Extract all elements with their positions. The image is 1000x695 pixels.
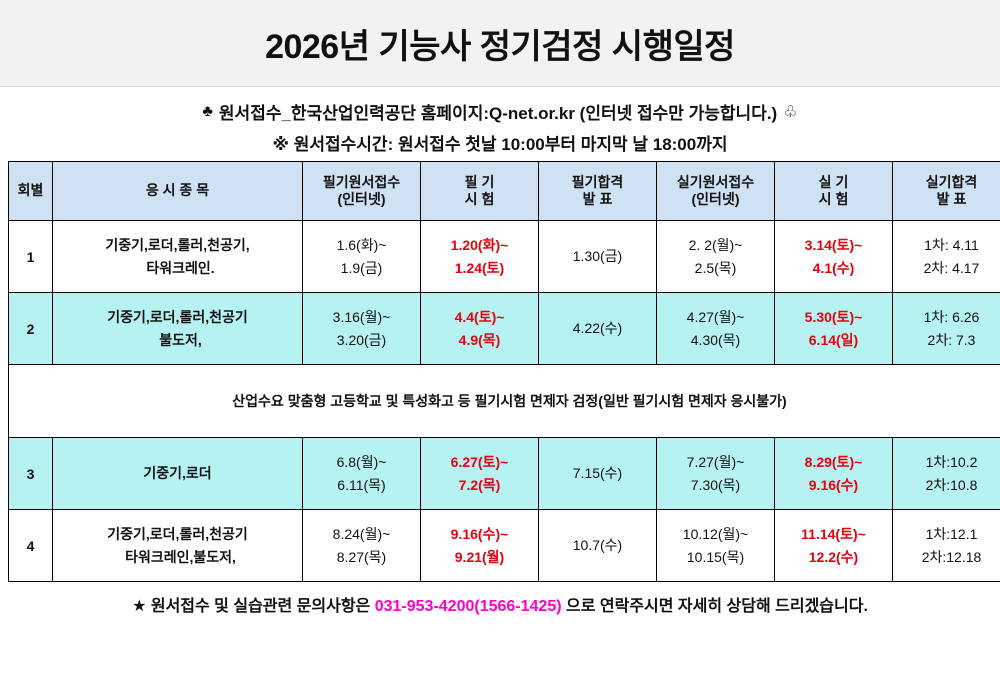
subject-line-2: 불도저, [55, 329, 300, 351]
schedule-table-wrap: 회별 응 시 종 목 필기원서접수 (인터넷) 필 기 시 험 필기합격 [0, 161, 1000, 582]
cell-practical-exam: 8.29(토)~ 9.16(수) [775, 438, 893, 510]
subject-line-1: 기중기,로더,롤러,천공기 [107, 526, 247, 542]
cell-practical-result: 1차:12.1 2차:12.18 [893, 510, 1000, 582]
subject-line-1: 기중기,로더 [143, 465, 211, 481]
cell-written-exam: 1.20(화)~ 1.24(토) [421, 221, 539, 293]
table-row: 1 기중기,로더,롤러,천공기, 타워크레인. 1.6(화)~ 1.9(금) 1… [9, 221, 1000, 293]
footer-text-before: 원서접수 및 실습관련 문의사항은 [151, 598, 370, 615]
notice-line-2: ※ 원서접수시간: 원서접수 첫날 10:00부터 마지막 날 18:00까지 [0, 130, 1000, 155]
cell-subject: 기중기,로더,롤러,천공기 불도저, [53, 293, 303, 365]
col-header-written-result: 필기합격 발 표 [539, 162, 657, 221]
table-row-notice: 산업수요 맞춤형 고등학교 및 특성화고 등 필기시험 면제자 검정(일반 필기… [9, 365, 1000, 438]
table-row: 4 기중기,로더,롤러,천공기 타워크레인,불도저, 8.24(월)~ 8.27… [9, 510, 1000, 582]
cell-practical-result: 1차: 4.11 2차: 4.17 [893, 221, 1000, 293]
cell-practical-apply: 4.27(월)~ 4.30(목) [657, 293, 775, 365]
cell-written-result: 1.30(금) [539, 221, 657, 293]
subject-line-2: 타워크레인. [55, 257, 300, 279]
cell-round: 3 [9, 438, 53, 510]
cell-written-result: 10.7(수) [539, 510, 657, 582]
cell-written-exam: 4.4(토)~ 4.9(목) [421, 293, 539, 365]
col-header-subject: 응 시 종 목 [53, 162, 303, 221]
footer-text-after: 으로 연락주시면 자세히 상담해 드리겠습니다. [566, 598, 868, 615]
cell-written-apply: 1.6(화)~ 1.9(금) [303, 221, 421, 293]
notice-line-1: ♣ 원서접수_한국산업인력공단 홈페이지:Q-net.or.kr (인터넷 접수… [0, 99, 1000, 124]
cell-written-apply: 8.24(월)~ 8.27(목) [303, 510, 421, 582]
cell-written-result: 4.22(수) [539, 293, 657, 365]
cell-practical-apply: 2. 2(월)~ 2.5(목) [657, 221, 775, 293]
page-title: 2026년 기능사 정기검정 시행일정 [265, 19, 735, 68]
contact-phone: 031-953-4200(1566-1425) [375, 598, 562, 615]
subject-line-1: 기중기,로더,롤러,천공기 [107, 309, 247, 325]
cell-written-exam: 6.27(토)~ 7.2(목) [421, 438, 539, 510]
cell-written-result: 7.15(수) [539, 438, 657, 510]
cell-practical-apply: 10.12(월)~ 10.15(목) [657, 510, 775, 582]
header-row: 회별 응 시 종 목 필기원서접수 (인터넷) 필 기 시 험 필기합격 [9, 162, 1000, 221]
cell-subject: 기중기,로더 [53, 438, 303, 510]
cell-practical-exam: 11.14(토)~ 12.2(수) [775, 510, 893, 582]
star-icon: ★ [132, 598, 146, 615]
notice-line-1-text: 원서접수_한국산업인력공단 홈페이지:Q-net.or.kr (인터넷 접수만 … [219, 99, 777, 124]
cell-mid-notice: 산업수요 맞춤형 고등학교 및 특성화고 등 필기시험 면제자 검정(일반 필기… [9, 365, 1000, 438]
cell-subject: 기중기,로더,롤러,천공기 타워크레인,불도저, [53, 510, 303, 582]
col-header-written-exam: 필 기 시 험 [421, 162, 539, 221]
subject-line-1: 기중기,로더,롤러,천공기, [105, 237, 249, 253]
subject-line-2: 타워크레인,불도저, [55, 546, 300, 568]
col-header-round: 회별 [9, 162, 53, 221]
cell-practical-exam: 3.14(토)~ 4.1(수) [775, 221, 893, 293]
col-header-practical-apply: 실기원서접수 (인터넷) [657, 162, 775, 221]
cell-written-apply: 6.8(월)~ 6.11(목) [303, 438, 421, 510]
cell-round: 4 [9, 510, 53, 582]
cell-practical-result: 1차: 6.26 2차: 7.3 [893, 293, 1000, 365]
cell-round: 1 [9, 221, 53, 293]
footer-note: ★ 원서접수 및 실습관련 문의사항은 031-953-4200(1566-14… [0, 582, 1000, 616]
club-icon-right: ♧ [783, 102, 797, 122]
table-header: 회별 응 시 종 목 필기원서접수 (인터넷) 필 기 시 험 필기합격 [9, 162, 1000, 221]
schedule-table: 회별 응 시 종 목 필기원서접수 (인터넷) 필 기 시 험 필기합격 [8, 161, 1000, 582]
col-header-practical-result: 실기합격 발 표 [893, 162, 1000, 221]
notice-block: ♣ 원서접수_한국산업인력공단 홈페이지:Q-net.or.kr (인터넷 접수… [0, 87, 1000, 161]
cell-subject: 기중기,로더,롤러,천공기, 타워크레인. [53, 221, 303, 293]
table-body: 1 기중기,로더,롤러,천공기, 타워크레인. 1.6(화)~ 1.9(금) 1… [9, 221, 1000, 582]
cell-practical-apply: 7.27(월)~ 7.30(목) [657, 438, 775, 510]
table-row: 3 기중기,로더 6.8(월)~ 6.11(목) 6.27(토)~ 7.2(목) [9, 438, 1000, 510]
cell-written-apply: 3.16(월)~ 3.20(금) [303, 293, 421, 365]
club-icon-left: ♣ [202, 103, 213, 121]
cell-round: 2 [9, 293, 53, 365]
title-band: 2026년 기능사 정기검정 시행일정 [0, 0, 1000, 87]
cell-practical-exam: 5.30(토)~ 6.14(일) [775, 293, 893, 365]
col-header-practical-exam: 실 기 시 험 [775, 162, 893, 221]
cell-written-exam: 9.16(수)~ 9.21(월) [421, 510, 539, 582]
cell-practical-result: 1차:10.2 2차:10.8 [893, 438, 1000, 510]
table-row: 2 기중기,로더,롤러,천공기 불도저, 3.16(월)~ 3.20(금) 4.… [9, 293, 1000, 365]
col-header-written-apply: 필기원서접수 (인터넷) [303, 162, 421, 221]
document-page: 2026년 기능사 정기검정 시행일정 ♣ 원서접수_한국산업인력공단 홈페이지… [0, 0, 1000, 695]
